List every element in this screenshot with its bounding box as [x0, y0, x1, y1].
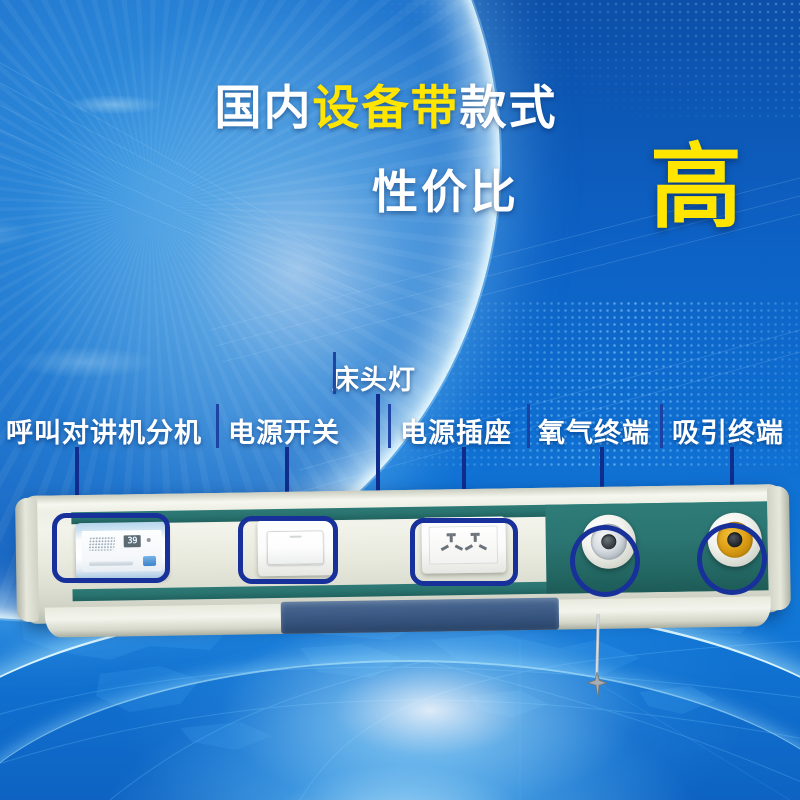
socket-pin-top-left [447, 533, 450, 536]
headline-emphasis: 高 [650, 142, 742, 234]
callout-label-suction: 吸引终端 [672, 411, 784, 450]
label-separator-5 [333, 352, 336, 394]
callout-label-socket: 电源插座 [400, 411, 512, 450]
power-switch[interactable] [257, 519, 334, 576]
label-separator-2 [388, 404, 391, 448]
intercom-faceplate: 39 [82, 530, 163, 572]
headline-block: 国内设备带款式 [0, 84, 800, 131]
medical-bed-head-unit: 39 [0, 470, 800, 650]
intercom-slot [89, 561, 133, 566]
intercom-call-button[interactable] [143, 556, 156, 566]
socket-pin-bottom-right [479, 544, 487, 550]
label-separator-1 [216, 404, 219, 448]
headline-part-2: 设备带 [313, 81, 460, 134]
socket-pin-bottom-left [441, 545, 449, 551]
socket-pin-top-right [453, 533, 456, 536]
socket-pin-bottom-left [465, 544, 473, 550]
callout-label-switch: 电源开关 [228, 411, 340, 450]
socket-pin-top-right [477, 533, 480, 536]
callout-label-oxygen: 氧气终端 [538, 411, 650, 450]
speaker-grille-icon [88, 537, 115, 551]
panel-end-cap-right [767, 486, 791, 610]
headline-line-2: 性价比 [372, 166, 519, 219]
panel-end-cap-left [15, 498, 39, 622]
oxygen-terminal[interactable] [581, 514, 636, 569]
pull-cord-handle-icon[interactable] [586, 672, 608, 698]
label-separator-3 [527, 404, 530, 448]
intercom-display: 39 [124, 535, 141, 547]
power-socket[interactable] [421, 516, 506, 573]
socket-outlet-2[interactable] [463, 533, 489, 555]
suction-terminal[interactable] [707, 512, 762, 567]
headline-part-1: 国内 [215, 81, 313, 134]
status-led-icon [147, 538, 151, 542]
headline-line-1: 国内设备带款式 [0, 84, 800, 131]
call-intercom-extension[interactable]: 39 [75, 522, 168, 579]
headline-part-3: 款式 [460, 81, 558, 134]
bed-head-lamp[interactable] [281, 598, 559, 634]
callout-label-bed-lamp: 床头灯 [332, 358, 416, 397]
label-separator-4 [660, 404, 663, 448]
socket-outlet-1[interactable] [439, 533, 465, 555]
panel-assembly: 39 [21, 484, 785, 624]
socket-faceplate [429, 526, 499, 565]
headline-line-2-block: 性价比 高 [0, 166, 800, 246]
switch-indicator-mark [289, 536, 301, 538]
socket-pin-top-left [471, 533, 474, 536]
promo-banner: 国内设备带款式 性价比 高 呼叫对讲机分机 电源开关 床头灯 电源插座 氧气终端… [0, 0, 800, 800]
switch-rocker[interactable] [267, 530, 325, 565]
callout-label-intercom: 呼叫对讲机分机 [6, 411, 202, 450]
